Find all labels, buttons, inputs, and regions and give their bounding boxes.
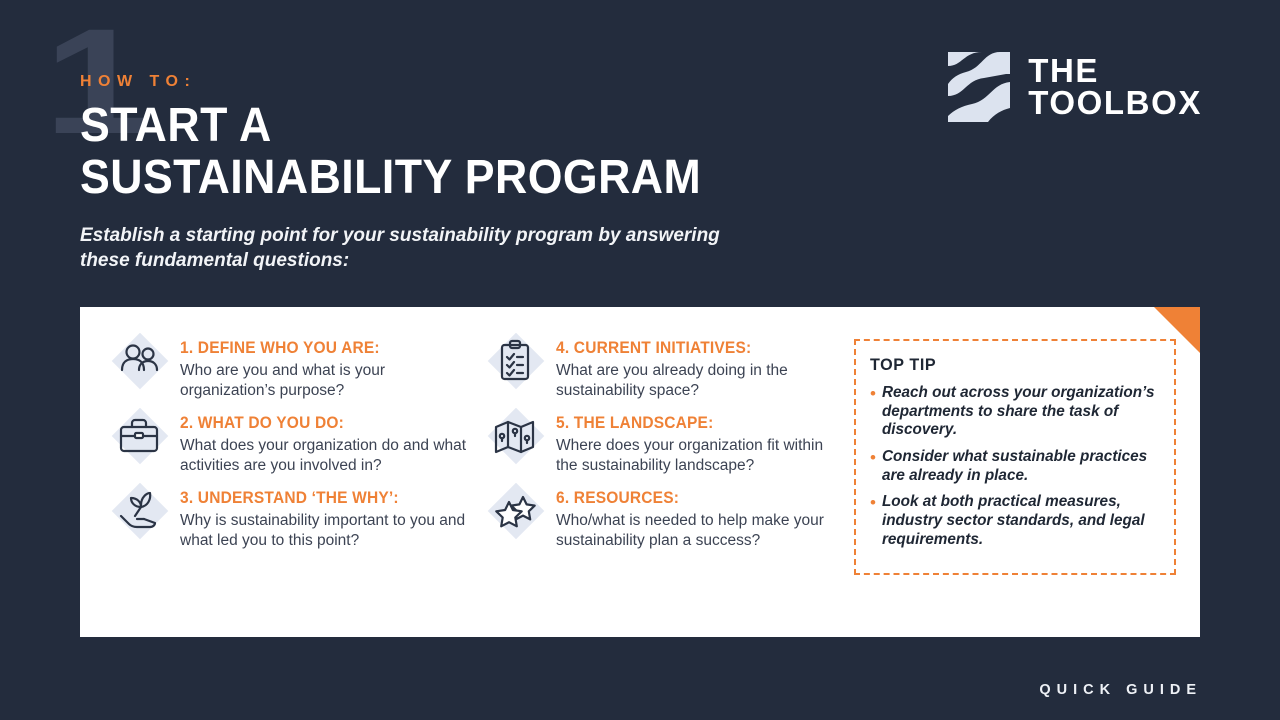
list-item: • Reach out across your organization’s d… (870, 384, 1158, 440)
hand-plant-icon (108, 483, 170, 541)
list-item-text: Where does your organization fit within … (556, 436, 846, 476)
tip-column: TOP TIP • Reach out across your organiza… (846, 335, 1176, 619)
people-icon (108, 333, 170, 391)
list-item-text: What are you already doing in the sustai… (556, 361, 846, 401)
list-item: 5. THE LANDSCAPE: Where does your organi… (484, 410, 846, 476)
top-tip-box: TOP TIP • Reach out across your organiza… (854, 339, 1176, 575)
list-item-title: 3. UNDERSTAND ‘THE WHY’: (180, 490, 462, 507)
list-item: • Consider what sustainable practices ar… (870, 448, 1158, 485)
list-item-title: 4. CURRENT INITIATIVES: (556, 340, 829, 357)
list-item-text: Why is sustainability important to you a… (180, 511, 480, 551)
top-tip-text: Consider what sustainable practices are … (882, 448, 1158, 485)
list-item-text: Who are you and what is your organizatio… (180, 361, 480, 401)
list-item-text: Who/what is needed to help make your sus… (556, 511, 846, 551)
list-item: 2. WHAT DO YOU DO: What does your organi… (108, 410, 480, 476)
items-column-middle: 4. CURRENT INITIATIVES: What are you alr… (480, 335, 846, 619)
footer-label: QUICK GUIDE (1039, 682, 1202, 698)
list-item: 6. RESOURCES: Who/what is needed to help… (484, 485, 846, 551)
top-tip-text: Look at both practical measures, industr… (882, 493, 1158, 549)
brand-logo-text: THE TOOLBOX (1028, 55, 1202, 119)
brand-logo-line2: TOOLBOX (1028, 87, 1202, 119)
map-icon (484, 408, 546, 466)
content-card: 1. DEFINE WHO YOU ARE: Who are you and w… (80, 307, 1200, 637)
bullet-icon: • (870, 493, 876, 549)
clipboard-checklist-icon (484, 333, 546, 391)
page-title: START A SUSTAINABILITY PROGRAM (80, 103, 701, 201)
list-item-title: 2. WHAT DO YOU DO: (180, 415, 462, 432)
brand-logo: THE TOOLBOX (948, 52, 1202, 122)
briefcase-icon (108, 408, 170, 466)
list-item: • Look at both practical measures, indus… (870, 493, 1158, 549)
items-column-left: 1. DEFINE WHO YOU ARE: Who are you and w… (104, 335, 480, 619)
list-item: 4. CURRENT INITIATIVES: What are you alr… (484, 335, 846, 401)
page-header: HOW TO: START A SUSTAINABILITY PROGRAM E… (80, 74, 748, 273)
page-title-line1: START A (80, 99, 272, 152)
top-tip-title: TOP TIP (870, 355, 1144, 375)
toolbox-logo-mark-icon (948, 52, 1010, 122)
list-item-title: 1. DEFINE WHO YOU ARE: (180, 340, 462, 357)
header-kicker: HOW TO: (80, 74, 748, 90)
page-title-line2: SUSTAINABILITY PROGRAM (80, 155, 701, 201)
list-item-title: 6. RESOURCES: (556, 490, 829, 507)
bullet-icon: • (870, 384, 876, 440)
top-tip-text: Reach out across your organization’s dep… (882, 384, 1158, 440)
list-item: 3. UNDERSTAND ‘THE WHY’: Why is sustaina… (108, 485, 480, 551)
bullet-icon: • (870, 448, 876, 485)
stars-icon (484, 483, 546, 541)
list-item: 1. DEFINE WHO YOU ARE: Who are you and w… (108, 335, 480, 401)
list-item-text: What does your organization do and what … (180, 436, 480, 476)
brand-logo-line1: THE (1028, 55, 1202, 87)
page-subtitle: Establish a starting point for your sust… (80, 223, 740, 273)
list-item-title: 5. THE LANDSCAPE: (556, 415, 829, 432)
